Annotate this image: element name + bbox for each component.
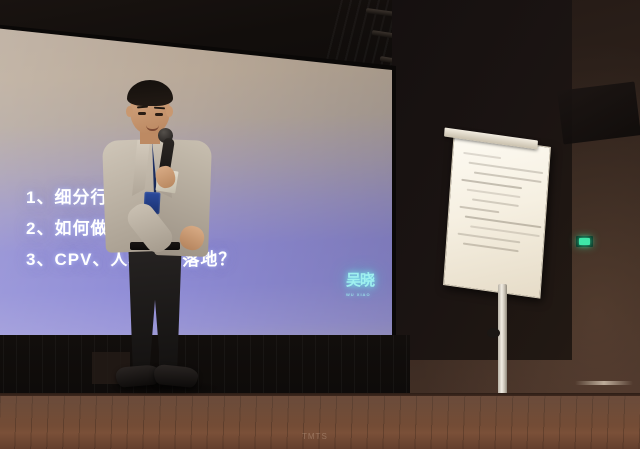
speaker-hair	[127, 80, 173, 106]
flipchart-height-knob	[487, 328, 500, 338]
speaker-eye-right	[155, 113, 163, 116]
image-watermark: TMTS	[302, 432, 328, 441]
flipchart-easel	[438, 132, 588, 432]
presentation-photo: 本次议题 1、细分行业 2、如何做 3、CPV、人群如何落地？ 吴晓 WU XI…	[0, 0, 640, 449]
speaker-figure: TMTS	[96, 84, 246, 449]
slide-logo-sub: WU XIAO	[346, 288, 380, 302]
speaker-eye-left	[138, 112, 146, 115]
speaker-ear-left	[126, 106, 133, 117]
flipchart-handwriting	[444, 134, 550, 297]
slide-logo: 吴晓 WU XIAO	[346, 274, 380, 304]
speaker-ear-right	[166, 106, 173, 117]
flipchart-paper	[443, 133, 551, 298]
flipchart-line-7	[459, 206, 499, 214]
flipchart-line-5	[467, 189, 521, 199]
flipchart-line-10	[458, 233, 521, 244]
flipchart-line-11	[463, 242, 519, 252]
flipchart-line-1	[463, 152, 501, 159]
flipchart-line-6	[472, 198, 519, 207]
slide-logo-mark: 吴晓	[346, 272, 374, 289]
speaker-trousers	[126, 246, 184, 374]
flipchart-line-4	[461, 179, 522, 190]
